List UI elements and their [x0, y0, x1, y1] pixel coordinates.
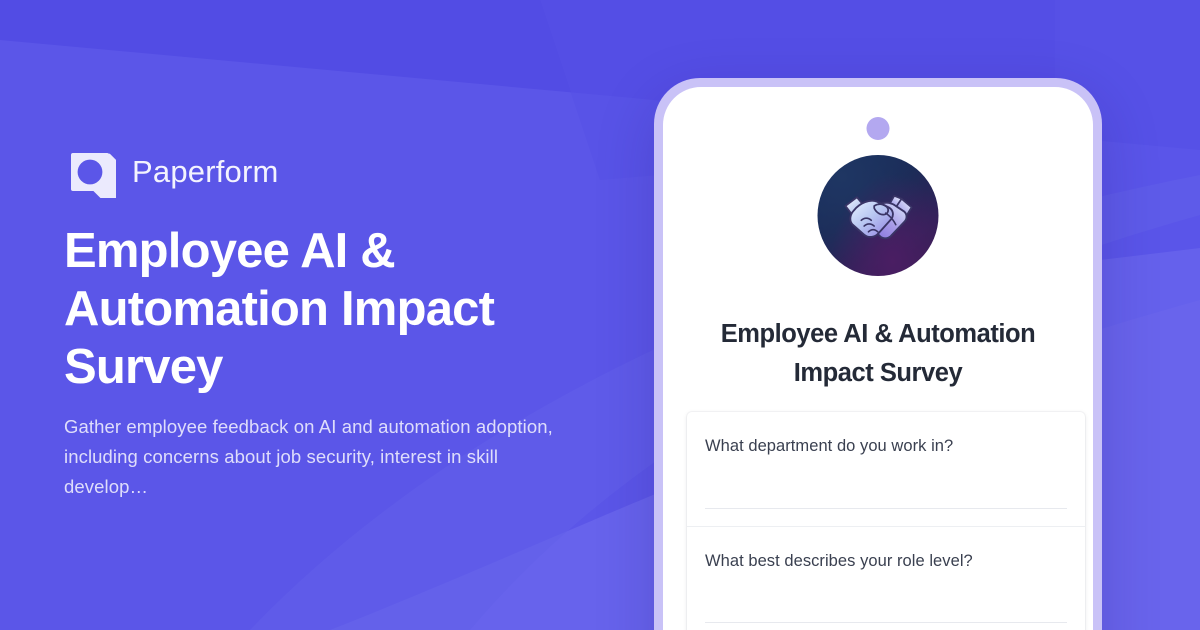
handshake-glyph: [832, 170, 924, 262]
answer-input[interactable]: [705, 508, 1067, 509]
phone-mockup: Employee AI & Automation Impact Survey W…: [654, 78, 1102, 630]
question-card: What department do you work in? What bes…: [687, 412, 1085, 630]
phone-screen: Employee AI & Automation Impact Survey W…: [663, 87, 1093, 630]
form-title: Employee AI & Automation Impact Survey: [691, 315, 1065, 393]
paperform-logo[interactable]: Paperform: [64, 146, 279, 198]
question-label: What best describes your role level?: [705, 549, 1067, 573]
answer-input[interactable]: [705, 622, 1067, 623]
paperform-rosette-icon: [64, 146, 116, 198]
page-title: Employee AI & Automation Impact Survey: [64, 222, 584, 396]
camera-dot-icon: [867, 117, 890, 140]
page-description: Gather employee feedback on AI and autom…: [64, 412, 564, 502]
question-label: What department do you work in?: [705, 434, 1067, 458]
handshake-icon: [818, 155, 939, 276]
hero-content: Paperform Employee AI & Automation Impac…: [64, 0, 624, 630]
question-block[interactable]: What department do you work in?: [687, 412, 1085, 526]
question-block[interactable]: What best describes your role level?: [687, 526, 1085, 630]
brand-name: Paperform: [132, 154, 279, 190]
